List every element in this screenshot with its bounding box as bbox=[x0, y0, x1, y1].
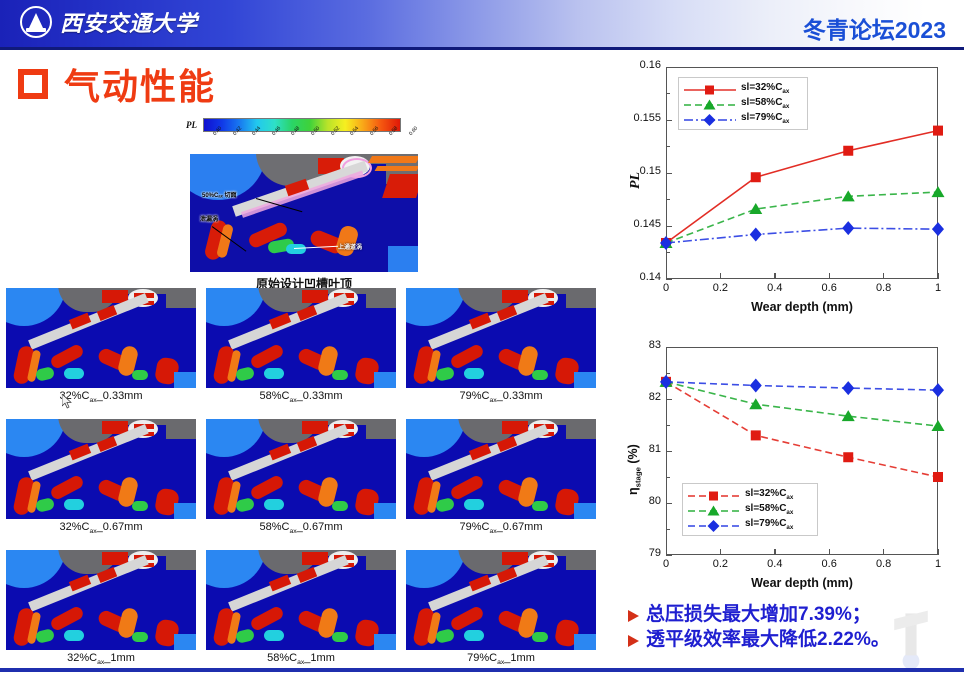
page-title: 气动性能 bbox=[18, 58, 216, 110]
legend-swatch bbox=[688, 504, 740, 516]
x-tick-label: 0.4 bbox=[759, 558, 791, 570]
legend-swatch bbox=[688, 519, 740, 531]
university-seal-icon bbox=[20, 6, 52, 38]
y-tick-mark bbox=[666, 503, 672, 504]
y-tick-mark bbox=[666, 120, 672, 121]
y-tick-label: 0.16 bbox=[622, 59, 661, 71]
figure-region bbox=[334, 224, 360, 258]
contour-cell: 32%Cax_1mm bbox=[6, 550, 196, 666]
y-minor-tick bbox=[666, 529, 670, 530]
legend-swatch bbox=[684, 98, 736, 110]
contour-caption: 79%Cax_0.33mm bbox=[406, 390, 596, 404]
legend-item: sl=58%Cax bbox=[684, 96, 802, 111]
watermark-icon bbox=[868, 605, 954, 675]
y-minor-tick bbox=[666, 199, 670, 200]
arrow-bullet-icon bbox=[628, 610, 639, 622]
contour-caption: 79%Cax_1mm bbox=[406, 652, 596, 666]
stage-efficiency-chart: 798081828300.20.40.60.81Wear depth (mm)η… bbox=[622, 335, 960, 600]
contour-image bbox=[6, 550, 196, 650]
legend-label: sl=32%Cax bbox=[745, 488, 793, 501]
contour-cell: 79%Cax_1mm bbox=[406, 550, 596, 666]
contour-image bbox=[406, 419, 596, 519]
footer-rule bbox=[0, 668, 964, 672]
figure-region bbox=[388, 246, 418, 272]
x-tick-mark bbox=[720, 273, 721, 279]
y-tick-mark bbox=[666, 226, 672, 227]
contour-image-grid: 32%Cax_0.33mm58%Cax_0.33mm79%Cax_0.33mm3… bbox=[6, 288, 606, 683]
square-bullet-icon bbox=[18, 69, 48, 99]
y-axis-title: PL bbox=[628, 172, 644, 189]
contour-caption: 58%Cax_1mm bbox=[206, 652, 396, 666]
chart-legend: sl=32%Caxsl=58%Caxsl=79%Cax bbox=[682, 483, 818, 536]
arrow-bullet-icon bbox=[628, 635, 639, 647]
contour-caption: 32%Cax_1mm bbox=[6, 652, 196, 666]
y-tick-mark bbox=[666, 347, 672, 348]
x-tick-mark bbox=[883, 273, 884, 279]
figure-region bbox=[375, 166, 418, 171]
contour-image bbox=[6, 419, 196, 519]
contour-caption: 58%Cax_0.33mm bbox=[206, 390, 396, 404]
x-tick-label: 0.6 bbox=[813, 282, 845, 294]
legend-label: sl=32%Cax bbox=[741, 82, 789, 95]
chart-legend: sl=32%Caxsl=58%Caxsl=79%Cax bbox=[678, 77, 808, 130]
x-tick-mark bbox=[666, 273, 667, 279]
x-tick-mark bbox=[829, 273, 830, 279]
contour-cell: 58%Cax_0.33mm bbox=[206, 288, 396, 404]
x-tick-label: 0.8 bbox=[868, 558, 900, 570]
x-tick-mark bbox=[720, 549, 721, 555]
x-tick-label: 0.2 bbox=[704, 558, 736, 570]
figure-annotation-1: 泄漏涡 bbox=[200, 214, 218, 223]
y-tick-label: 83 bbox=[622, 339, 661, 351]
legend-item: sl=79%Cax bbox=[684, 111, 802, 126]
x-axis-title: Wear depth (mm) bbox=[666, 576, 938, 590]
x-tick-mark bbox=[774, 273, 775, 279]
legend-swatch bbox=[684, 83, 736, 95]
figure-region bbox=[368, 156, 418, 163]
colorbar-ticks: 0.400.420.440.460.480.500.520.540.560.58… bbox=[212, 133, 410, 153]
y-tick-mark bbox=[666, 399, 672, 400]
y-axis-title: ηstage (%) bbox=[626, 444, 643, 495]
colorbar-tick: 0.60 bbox=[408, 125, 419, 137]
y-minor-tick bbox=[666, 146, 670, 147]
x-tick-mark bbox=[938, 273, 939, 279]
header-underline bbox=[0, 47, 964, 50]
y-tick-mark bbox=[666, 451, 672, 452]
figure-annotation-2: 上通道涡 bbox=[338, 242, 362, 251]
x-tick-label: 0.6 bbox=[813, 558, 845, 570]
y-tick-mark bbox=[666, 67, 672, 68]
y-tick-label: 0.155 bbox=[622, 112, 661, 124]
x-tick-mark bbox=[829, 549, 830, 555]
bullet-text: 总压损失最大增加7.39%； bbox=[646, 604, 871, 626]
contour-cell: 58%Cax_0.67mm bbox=[206, 419, 396, 535]
legend-label: sl=58%Cax bbox=[741, 97, 789, 110]
x-tick-label: 0 bbox=[650, 558, 682, 570]
mouse-cursor-icon bbox=[62, 394, 72, 409]
legend-label: sl=79%Cax bbox=[745, 518, 793, 531]
x-tick-mark bbox=[883, 549, 884, 555]
legend-label: sl=58%Cax bbox=[745, 503, 793, 516]
y-minor-tick bbox=[666, 252, 670, 253]
y-tick-mark bbox=[666, 279, 672, 280]
legend-item: sl=58%Cax bbox=[688, 502, 812, 517]
x-tick-label: 0.2 bbox=[704, 282, 736, 294]
y-tick-label: 0.145 bbox=[622, 218, 661, 230]
legend-item: sl=79%Cax bbox=[688, 517, 812, 532]
y-tick-label: 80 bbox=[622, 495, 661, 507]
figure-region bbox=[382, 174, 418, 198]
contour-cell: 32%Cax_0.67mm bbox=[6, 419, 196, 535]
x-tick-label: 1 bbox=[922, 558, 954, 570]
x-tick-mark bbox=[774, 549, 775, 555]
contour-cell: 79%Cax_0.67mm bbox=[406, 419, 596, 535]
y-minor-tick bbox=[666, 425, 670, 426]
university-logo: 西安交通大学 bbox=[20, 6, 198, 38]
colorbar-label: PL bbox=[186, 120, 197, 130]
contour-caption: 32%Cax_0.67mm bbox=[6, 521, 196, 535]
contour-cell: 32%Cax_0.33mm bbox=[6, 288, 196, 404]
x-tick-label: 0.4 bbox=[759, 282, 791, 294]
pressure-loss-chart: 0.140.1450.150.1550.1600.20.40.60.81Wear… bbox=[622, 55, 960, 327]
y-tick-mark bbox=[666, 173, 672, 174]
contour-image bbox=[6, 288, 196, 388]
contour-caption: 79%Cax_0.67mm bbox=[406, 521, 596, 535]
legend-item: sl=32%Cax bbox=[684, 81, 802, 96]
university-name: 西安交通大学 bbox=[60, 6, 198, 38]
main-contour-canvas: 50%Cₐₓ 切面 泄漏涡 上通道涡 bbox=[190, 154, 418, 272]
x-tick-label: 1 bbox=[922, 282, 954, 294]
legend-item: sl=32%Cax bbox=[688, 487, 812, 502]
contour-cell: 79%Cax_0.33mm bbox=[406, 288, 596, 404]
contour-cell: 58%Cax_1mm bbox=[206, 550, 396, 666]
page-title-text: 气动性能 bbox=[64, 58, 216, 110]
contour-image bbox=[406, 288, 596, 388]
figure-annotation-0: 50%Cₐₓ 切面 bbox=[202, 190, 236, 199]
x-tick-label: 0 bbox=[650, 282, 682, 294]
contour-image bbox=[406, 550, 596, 650]
contour-image bbox=[206, 288, 396, 388]
legend-swatch bbox=[684, 113, 736, 125]
main-contour-figure: PL 0.400.420.440.460.480.500.520.540.560… bbox=[186, 118, 422, 290]
y-minor-tick bbox=[666, 373, 670, 374]
legend-label: sl=79%Cax bbox=[741, 112, 789, 125]
contour-image bbox=[206, 419, 396, 519]
contour-caption: 58%Cax_0.67mm bbox=[206, 521, 396, 535]
y-minor-tick bbox=[666, 93, 670, 94]
contour-image bbox=[206, 550, 396, 650]
x-tick-label: 0.8 bbox=[868, 282, 900, 294]
bullet-text: 透平级效率最大降低2.22%。 bbox=[646, 629, 890, 651]
y-minor-tick bbox=[666, 477, 670, 478]
y-tick-label: 82 bbox=[622, 391, 661, 403]
contour-caption: 32%Cax_0.33mm bbox=[6, 390, 196, 404]
x-tick-mark bbox=[666, 549, 667, 555]
x-tick-mark bbox=[938, 549, 939, 555]
forum-title: 冬青论坛2023 bbox=[803, 11, 946, 45]
x-axis-title: Wear depth (mm) bbox=[666, 300, 938, 314]
legend-swatch bbox=[688, 489, 740, 501]
y-tick-mark bbox=[666, 555, 672, 556]
